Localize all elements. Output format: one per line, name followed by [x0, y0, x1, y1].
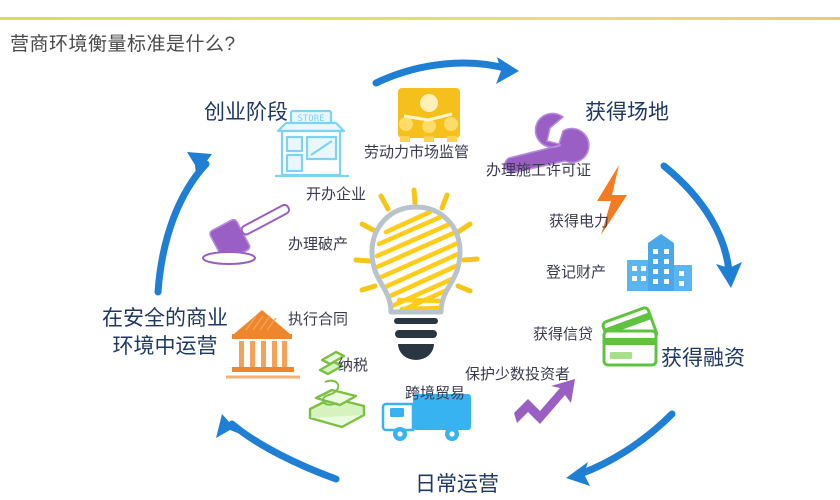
gavel-icon [203, 194, 297, 264]
topic-label-start-biz: 开办企业 [306, 186, 366, 205]
arrow-top [376, 57, 519, 84]
building-icon [627, 234, 692, 291]
topic-label-trade: 跨境贸易 [405, 385, 465, 404]
topic-label-labor: 劳动力市场监管 [364, 144, 469, 163]
topic-label-construct: 办理施工许可证 [486, 162, 591, 181]
stage-label-daily-ops: 日常运营 [415, 472, 499, 498]
stage-label-safe-env-line2: 环境中运营 [101, 333, 229, 361]
topic-label-investors: 保护少数投资者 [465, 366, 570, 385]
arrow-bottom-right [566, 414, 672, 486]
stage-label-safe-env-line1: 在安全的商业 [101, 305, 229, 333]
stage-label-financing: 获得融资 [661, 346, 745, 372]
topic-label-electric: 获得电力 [549, 213, 609, 232]
topic-label-credit: 获得信贷 [533, 326, 593, 345]
arrow-bottom-left [216, 414, 336, 479]
stage-label-safe-env: 在安全的商业 环境中运营 [101, 305, 229, 362]
growth-arrow-icon [514, 379, 575, 424]
arrow-left [158, 152, 212, 292]
topic-label-contracts: 执行合同 [288, 311, 348, 330]
credit-cards-icon [602, 307, 658, 365]
topic-label-taxes: 纳税 [338, 357, 368, 376]
stage-label-location: 获得场地 [585, 100, 669, 126]
topic-label-property: 登记财产 [546, 264, 606, 283]
lightbulb-icon [356, 190, 477, 360]
topic-label-insolvency: 办理破产 [288, 236, 348, 255]
diagram-artwork: STORE [0, 0, 840, 500]
slide-canvas: 营商环境衡量标准是什么? [0, 0, 840, 500]
labor-market-icon [398, 88, 460, 142]
stage-label-startup: 创业阶段 [204, 100, 288, 126]
